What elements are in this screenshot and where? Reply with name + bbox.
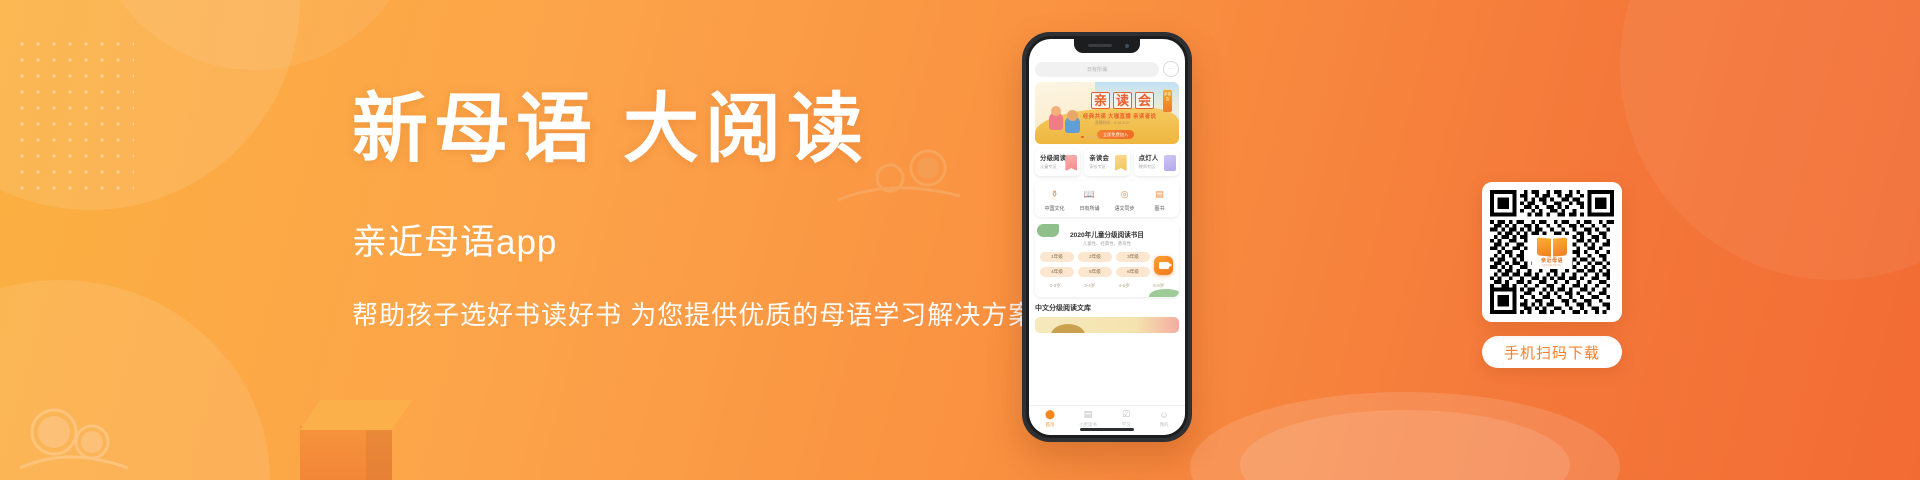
tab-profile[interactable]: ☺ 我的 [1145,409,1183,428]
tab-label: 我的 [1145,422,1183,428]
phone-bezel: 日有所诵 ··· 亲 读 会 亲读会 经典 [1026,36,1188,438]
portal-card-graded-reading[interactable]: 分级阅读 儿童专区 [1035,149,1080,176]
app-content: 日有所诵 ··· 亲 读 会 亲读会 经典 [1029,55,1185,435]
quick-icon-label: 中国文化 [1037,205,1072,212]
hero-title-char-3: 会 [1135,92,1154,109]
quick-icon-books[interactable]: ▤ 图书 [1142,187,1177,212]
quick-icon-row: ⚱ 中国文化 📖 日有所诵 ◎ 语文同步 ▤ [1035,181,1179,217]
decorative-circle-right [1620,0,1920,280]
quick-icon-label: 日有所诵 [1072,205,1107,212]
booklist-section: 2020年儿童分级阅读书目 儿童性、经典性、教育性 1年级 2年级 3年级 4年… [1035,222,1179,297]
decorative-circle-top-left [0,0,300,210]
hero-title: 亲 读 会 [1091,92,1154,109]
hero-banner[interactable]: 亲 读 会 亲读会 经典共读 大咖直播 亲读者说 直播时间：9.16-9.27 [1035,82,1179,144]
promo-banner: 新母语 大阅读 亲近母语app 帮助孩子选好书读好书 为您提供优质的母语学习解决… [0,0,1920,480]
hero-carousel-dots[interactable] [1081,136,1097,139]
hero-child-illustration-2 [1065,116,1080,133]
video-play-icon[interactable] [1154,256,1173,275]
carousel-dot-1[interactable] [1081,136,1084,139]
quick-icon-chinese-culture[interactable]: ⚱ 中国文化 [1037,187,1072,212]
banner-subline: 亲近母语app [352,214,1012,265]
study-icon: ☑ [1121,409,1132,420]
cloud-ornament-bottom-left [20,394,190,474]
grade-chip[interactable]: 2年级 [1078,252,1112,262]
hero-flag-label: 亲读会 [1163,90,1172,112]
speaker-icon [1088,44,1112,47]
grade-chip[interactable]: 6年级 [1116,267,1150,277]
phone-mockup: 日有所诵 ··· 亲 读 会 亲读会 经典 [1022,32,1192,442]
open-book-icon: 📖 [1082,187,1097,202]
grade-chip[interactable]: 4年级 [1040,267,1074,277]
person-shape-icon [1164,155,1176,171]
tab-home[interactable]: ⬤ 首页 [1031,409,1069,428]
library-card[interactable] [1035,317,1179,333]
download-button[interactable]: 手机扫码下载 [1482,336,1622,368]
banner-copy: 新母语 大阅读 亲近母语app 帮助孩子选好书读好书 为您提供优质的母语学习解决… [352,92,1012,332]
portal-card-parent-club[interactable]: 亲读会 家长专区 [1084,149,1129,176]
hero-join-button[interactable]: 立即免费加入 [1097,130,1134,139]
library-section-title: 中文分级阅读文库 [1035,303,1179,313]
qr-logo-en: QINJIN MUYU [1542,264,1561,267]
book-logo-icon [1537,238,1567,256]
quick-icon-daily-recitation[interactable]: 📖 日有所诵 [1072,187,1107,212]
age-chip[interactable]: 4-5岁 [1109,281,1140,291]
qr-download-group: 亲近母语 QINJIN MUYU 手机扫码下载 [1482,182,1622,368]
qr-logo-name: 亲近母语 [1541,257,1563,264]
grade-chip[interactable]: 5年级 [1078,267,1112,277]
hero-child-illustration-1 [1049,112,1063,130]
quick-icon-chinese-sync[interactable]: ◎ 语文同步 [1107,187,1142,212]
grade-chip[interactable]: 1年级 [1040,252,1074,262]
decorative-cube [300,426,392,480]
portal-card-row: 分级阅读 儿童专区 亲读会 家长专区 点灯人 教师专区 [1035,149,1179,176]
leaf-ornament-bottom-right [1149,289,1179,297]
qr-code[interactable]: 亲近母语 QINJIN MUYU [1482,182,1622,322]
reading-icon: ▤ [1083,409,1094,420]
age-chip[interactable]: 3-4岁 [1075,281,1106,291]
phone-screen: 日有所诵 ··· 亲 读 会 亲读会 经典 [1029,39,1185,435]
hero-date: 直播时间：9.16-9.27 [1095,121,1130,126]
tab-reading[interactable]: ▤ 小步读书 [1069,409,1107,428]
decorative-ellipse-phone-base [1190,392,1620,480]
home-indicator [1080,428,1134,431]
lantern-icon: ⚱ [1047,187,1062,202]
profile-icon: ☺ [1159,409,1170,420]
tab-label: 首页 [1031,422,1069,428]
app-search-bar: 日有所诵 ··· [1035,61,1179,77]
search-input[interactable]: 日有所诵 [1035,62,1159,77]
quick-icon-label: 图书 [1142,205,1177,212]
portal-card-teacher[interactable]: 点灯人 教师专区 [1134,149,1179,176]
decorative-ellipse-phone-base-2 [1240,410,1570,480]
home-icon: ⬤ [1045,409,1056,420]
decorative-circle-bottom-left [0,280,270,480]
hero-title-char-1: 亲 [1091,92,1110,109]
banner-description: 帮助孩子选好书读好书 为您提供优质的母语学习解决方案 [352,295,1012,332]
camera-icon [1125,44,1129,48]
carousel-dot-3[interactable] [1090,136,1093,139]
qr-center-logo: 亲近母语 QINJIN MUYU [1532,235,1572,269]
banner-headline: 新母语 大阅读 [352,92,1012,168]
decorative-circle-top-left-2 [90,0,420,70]
sync-icon: ◎ [1117,187,1132,202]
hero-title-char-2: 读 [1113,92,1132,109]
decorative-dot-grid [14,36,134,196]
booklist-title: 2020年儿童分级阅读书目 [1040,229,1174,239]
quick-icon-label: 语文同步 [1107,205,1142,212]
grade-chip[interactable]: 3年级 [1116,252,1150,262]
hero-subtitle: 经典共读 大咖直播 亲读者说 [1083,112,1156,120]
booklist-subtitle: 儿童性、经典性、教育性 [1040,241,1174,247]
leaf-ornament-top-left [1037,224,1059,237]
book-icon: ▤ [1152,187,1167,202]
carousel-dot-2[interactable] [1086,136,1089,139]
tab-study[interactable]: ☑ 学习 [1107,409,1145,428]
age-chip-row: 0-3岁 3-4岁 4-5岁 5-6岁 [1040,281,1174,291]
age-chip[interactable]: 0-3岁 [1040,281,1071,291]
message-icon[interactable]: ··· [1163,61,1179,77]
qr-code-canvas: 亲近母语 QINJIN MUYU [1490,190,1614,314]
phone-notch [1074,39,1140,53]
